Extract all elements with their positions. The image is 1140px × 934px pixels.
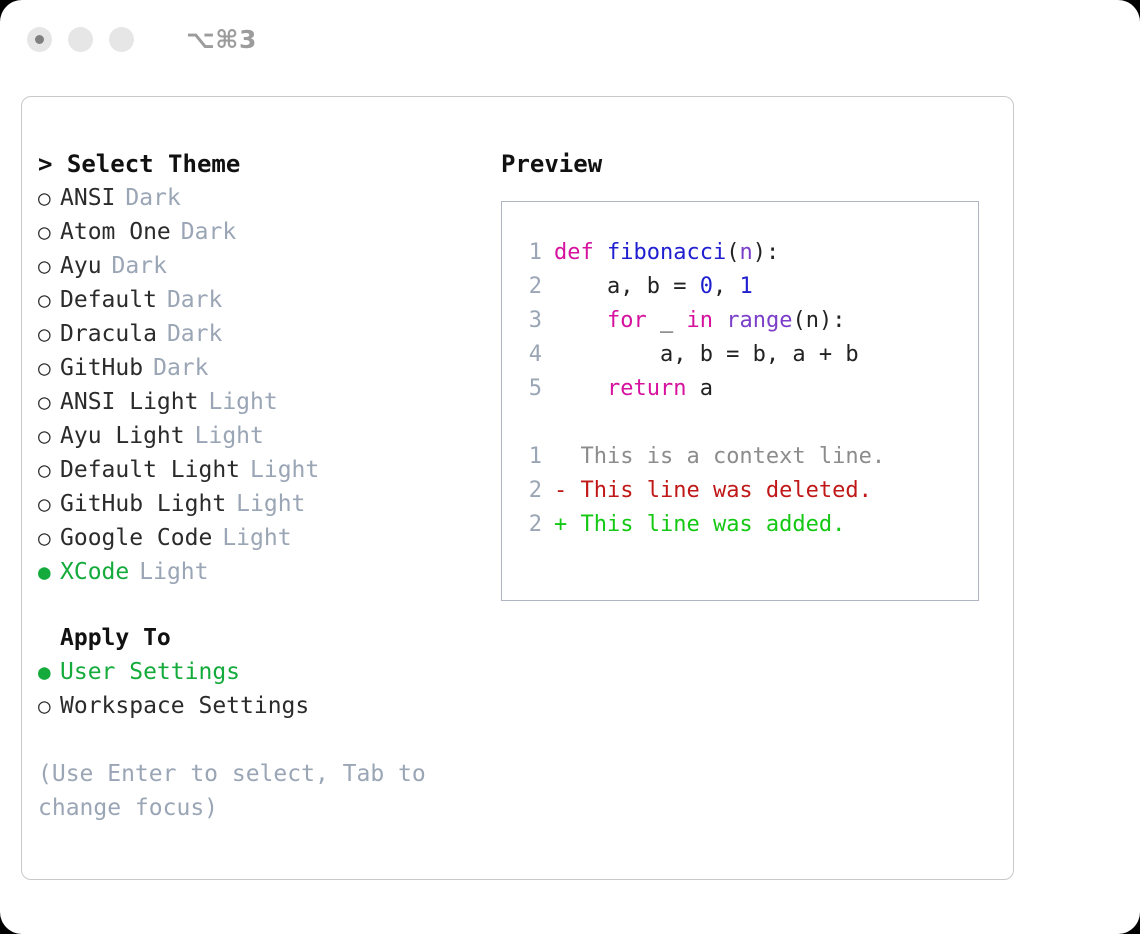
theme-item-variant: Dark [167, 283, 222, 317]
theme-dialog: > Select Theme ○ANSIDark○Atom OneDark○Ay… [21, 96, 1014, 880]
radio-unselected-icon: ○ [38, 181, 60, 215]
code-token-param: n [739, 240, 752, 265]
theme-list[interactable]: ○ANSIDark○Atom OneDark○AyuDark○DefaultDa… [38, 181, 498, 589]
code-token-plain: a, b = b, a + b [554, 342, 859, 367]
theme-item-label: ANSI Light [60, 385, 198, 419]
code-token-plain [554, 308, 607, 333]
diff-line-text: This is a context line. [567, 440, 885, 474]
theme-item-variant: Dark [153, 351, 208, 385]
keyboard-hint: (Use Enter to select, Tab to change focu… [38, 757, 438, 825]
apply-to-item-0[interactable]: ●User Settings [38, 655, 498, 689]
code-line-number: 2 [516, 270, 542, 304]
diff-marker-add: + [554, 508, 567, 542]
title-bar: ⌥⌘3 [0, 0, 1140, 78]
code-token-plain: _ [647, 308, 687, 333]
diff-sample: 1 This is a context line.2- This line wa… [516, 440, 978, 542]
diff-line-text: This line was added. [567, 508, 845, 542]
radio-unselected-icon: ○ [38, 487, 60, 521]
theme-item-label: Default [60, 283, 157, 317]
code-line: 1def fibonacci(n): [516, 236, 978, 270]
page-title: > Select Theme [38, 147, 498, 181]
theme-item-label: GitHub [60, 351, 143, 385]
code-line: 5 return a [516, 372, 978, 406]
theme-item-8[interactable]: ○Default LightLight [38, 453, 498, 487]
code-token-kw: for [607, 308, 647, 333]
theme-item-9[interactable]: ○GitHub LightLight [38, 487, 498, 521]
code-token-num: 1 [739, 274, 752, 299]
apply-to-item-label: User Settings [60, 655, 240, 689]
code-line-number: 4 [516, 338, 542, 372]
code-line: 3 for _ in range(n): [516, 304, 978, 338]
code-token-plain: ( [726, 240, 739, 265]
theme-item-variant: Light [208, 385, 277, 419]
code-token-kw: def [554, 240, 594, 265]
theme-item-variant: Dark [112, 249, 167, 283]
code-line-number: 3 [516, 304, 542, 338]
theme-item-variant: Dark [181, 215, 236, 249]
theme-item-label: Google Code [60, 521, 212, 555]
code-line-number: 5 [516, 372, 542, 406]
preview-box: 1def fibonacci(n):2 a, b = 0, 13 for _ i… [501, 201, 979, 601]
apply-to-item-1[interactable]: ○Workspace Settings [38, 689, 498, 723]
code-line: 2 a, b = 0, 1 [516, 270, 978, 304]
theme-item-variant: Light [236, 487, 305, 521]
code-token-builtin: range [726, 308, 792, 333]
theme-item-label: GitHub Light [60, 487, 226, 521]
radio-selected-icon: ● [38, 655, 60, 689]
theme-item-label: Default Light [60, 453, 240, 487]
theme-item-variant: Dark [167, 317, 222, 351]
theme-item-1[interactable]: ○Atom OneDark [38, 215, 498, 249]
radio-unselected-icon: ○ [38, 689, 60, 723]
window-dot-active[interactable] [27, 27, 52, 52]
apply-to-heading: Apply To [38, 621, 498, 655]
theme-item-variant: Dark [125, 181, 180, 215]
code-diff-spacer [516, 406, 978, 440]
code-token-fn: fibonacci [607, 240, 726, 265]
app-window: ⌥⌘3 > Select Theme ○ANSIDark○Atom OneDar… [0, 0, 1140, 934]
theme-item-label: Ayu [60, 249, 102, 283]
radio-unselected-icon: ○ [38, 351, 60, 385]
code-token-plain [594, 240, 607, 265]
code-sample: 1def fibonacci(n):2 a, b = 0, 13 for _ i… [516, 236, 978, 406]
code-token-plain [713, 308, 726, 333]
keyboard-shortcut-label: ⌥⌘3 [186, 25, 257, 54]
diff-marker-ctx [554, 440, 567, 474]
apply-to-list[interactable]: ●User Settings○Workspace Settings [38, 655, 498, 723]
theme-item-label: Atom One [60, 215, 171, 249]
theme-item-5[interactable]: ○GitHubDark [38, 351, 498, 385]
code-token-plain: a [686, 376, 713, 401]
radio-unselected-icon: ○ [38, 453, 60, 487]
diff-marker-del: - [554, 474, 567, 508]
theme-item-label: Dracula [60, 317, 157, 351]
diff-line: 2- This line was deleted. [516, 474, 978, 508]
apply-to-item-label: Workspace Settings [60, 689, 309, 723]
code-token-kw: in [686, 308, 713, 333]
code-token-kw: return [607, 376, 686, 401]
diff-line-text: This line was deleted. [567, 474, 872, 508]
code-token-plain [554, 376, 607, 401]
theme-item-7[interactable]: ○Ayu LightLight [38, 419, 498, 453]
diff-line-number: 2 [516, 508, 542, 542]
code-line-content: return a [554, 372, 713, 406]
theme-item-10[interactable]: ○Google CodeLight [38, 521, 498, 555]
radio-selected-icon: ● [38, 555, 60, 589]
code-token-plain: ): [753, 240, 780, 265]
theme-item-label: XCode [60, 555, 129, 589]
radio-unselected-icon: ○ [38, 419, 60, 453]
diff-line: 1 This is a context line. [516, 440, 978, 474]
code-line-content: a, b = b, a + b [554, 338, 859, 372]
theme-item-3[interactable]: ○DefaultDark [38, 283, 498, 317]
radio-unselected-icon: ○ [38, 317, 60, 351]
code-line-content: for _ in range(n): [554, 304, 845, 338]
radio-unselected-icon: ○ [38, 521, 60, 555]
theme-item-6[interactable]: ○ANSI LightLight [38, 385, 498, 419]
window-dot-3[interactable] [109, 27, 134, 52]
theme-item-label: ANSI [60, 181, 115, 215]
diff-line-number: 2 [516, 474, 542, 508]
theme-item-4[interactable]: ○DraculaDark [38, 317, 498, 351]
window-dot-2[interactable] [68, 27, 93, 52]
code-line-content: def fibonacci(n): [554, 236, 779, 270]
radio-unselected-icon: ○ [38, 283, 60, 317]
theme-item-11[interactable]: ●XCodeLight [38, 555, 498, 589]
theme-item-2[interactable]: ○AyuDark [38, 249, 498, 283]
code-token-num: 0 [700, 274, 713, 299]
diff-line-number: 1 [516, 440, 542, 474]
code-line-content: a, b = 0, 1 [554, 270, 753, 304]
code-line-number: 1 [516, 236, 542, 270]
radio-unselected-icon: ○ [38, 249, 60, 283]
radio-unselected-icon: ○ [38, 385, 60, 419]
theme-item-label: Ayu Light [60, 419, 185, 453]
theme-item-variant: Light [250, 453, 319, 487]
code-line: 4 a, b = b, a + b [516, 338, 978, 372]
preview-heading: Preview [501, 147, 1001, 181]
radio-unselected-icon: ○ [38, 215, 60, 249]
theme-item-variant: Light [139, 555, 208, 589]
code-token-plain: , [713, 274, 740, 299]
code-token-plain: a, b = [554, 274, 700, 299]
code-token-plain: (n): [792, 308, 845, 333]
preview-panel: Preview 1def fibonacci(n):2 a, b = 0, 13… [501, 147, 1001, 601]
theme-item-variant: Light [222, 521, 291, 555]
theme-item-0[interactable]: ○ANSIDark [38, 181, 498, 215]
theme-item-variant: Light [195, 419, 264, 453]
section-spacer [38, 589, 498, 621]
diff-line: 2+ This line was added. [516, 508, 978, 542]
theme-selection-panel: > Select Theme ○ANSIDark○Atom OneDark○Ay… [38, 147, 498, 825]
